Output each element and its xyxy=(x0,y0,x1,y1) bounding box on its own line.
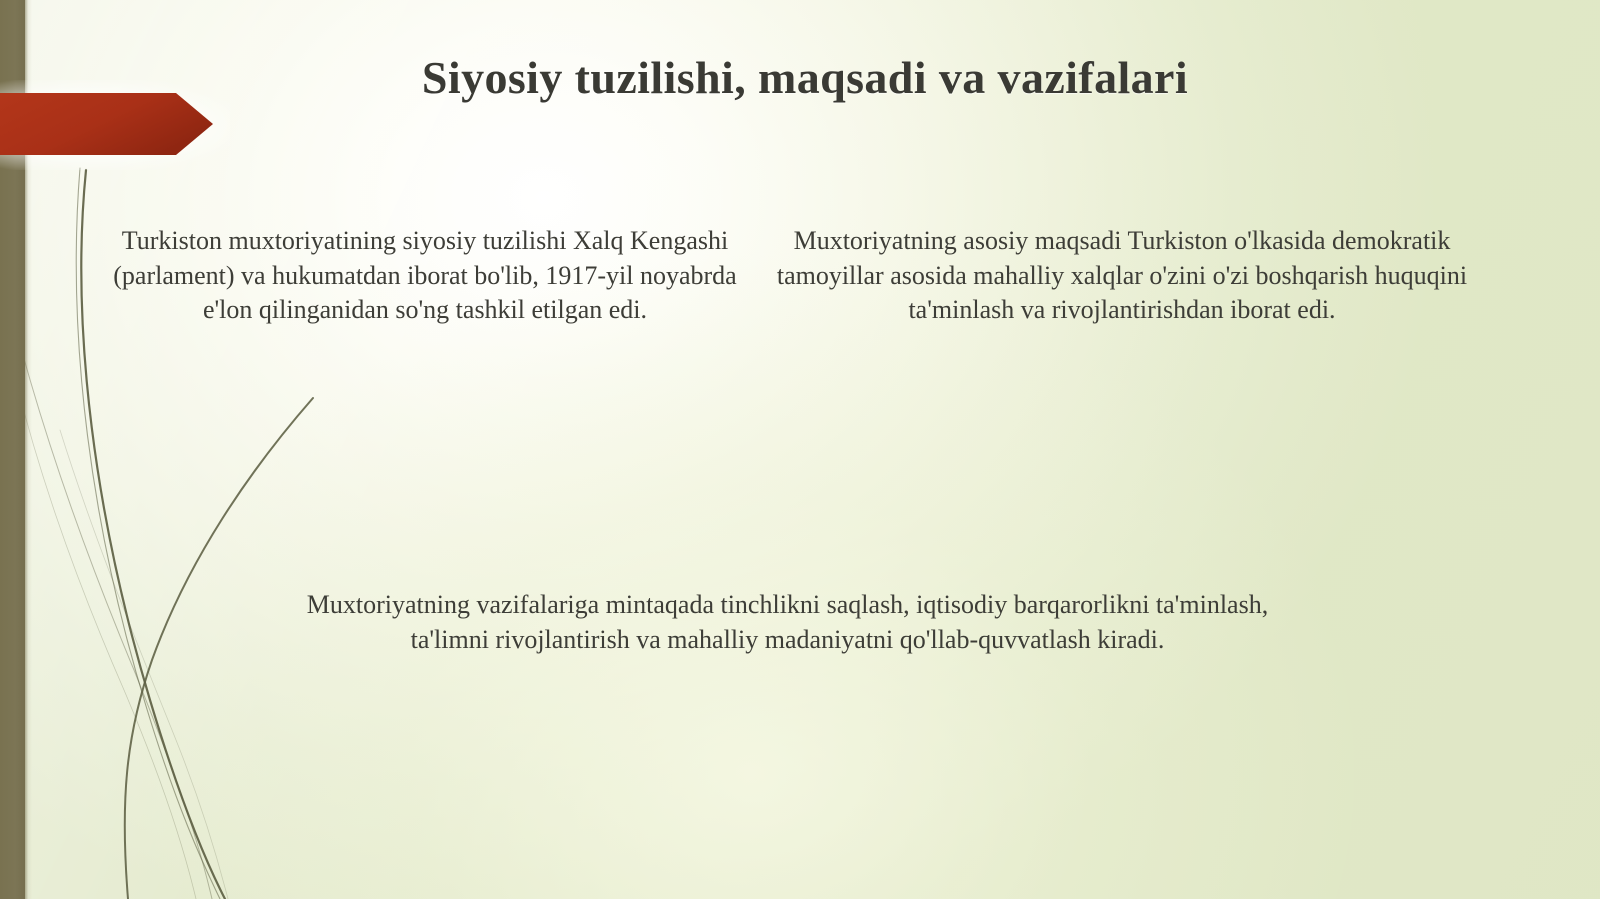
chevron-arrow-icon xyxy=(0,92,215,156)
presentation-slide: Siyosiy tuzilishi, maqsadi va vazifalari… xyxy=(0,0,1600,899)
red-chevron-banner xyxy=(0,92,215,156)
slide-background-glow xyxy=(0,0,1600,899)
page-title: Siyosiy tuzilishi, maqsadi va vazifalari xyxy=(230,52,1380,105)
text-block-tasks: Muxtoriyatning vazifalariga mintaqada ti… xyxy=(300,588,1275,657)
text-block-structure: Turkiston muxtoriyatining siyosiy tuzili… xyxy=(110,224,740,328)
text-block-goal: Muxtoriyatning asosiy maqsadi Turkiston … xyxy=(772,224,1472,328)
